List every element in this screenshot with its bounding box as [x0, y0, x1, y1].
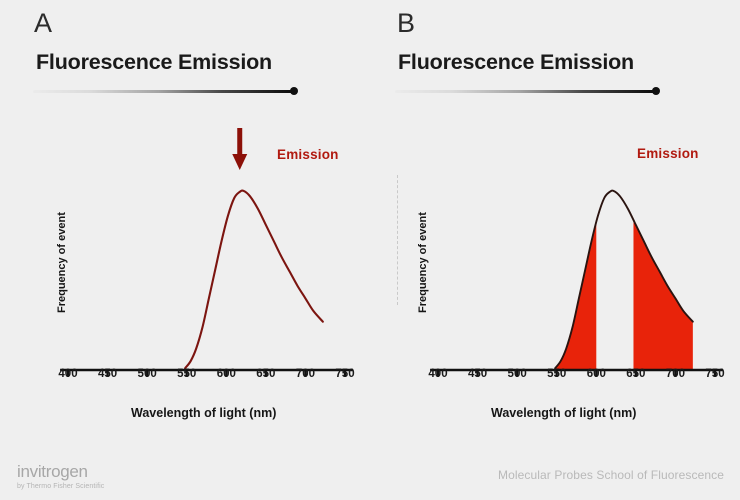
x-tick-label: 450 [98, 368, 117, 380]
x-tick-label: 450 [468, 368, 487, 380]
panel-b-plot [370, 120, 740, 380]
panel-a-title-rule [33, 90, 295, 93]
panel-b-x-axis-label: Wavelength of light (nm) [491, 406, 636, 420]
panel-a: A Fluorescence Emission Emission Frequen… [0, 0, 370, 455]
panel-b-title-rule [395, 90, 657, 93]
panel-a-title: Fluorescence Emission [36, 50, 272, 75]
x-tick-label: 650 [256, 368, 275, 380]
panel-a-emission-arrow [232, 128, 247, 170]
panel-a-emission-curve [185, 191, 323, 369]
x-tick-label: 700 [666, 368, 685, 380]
x-tick-label: 550 [547, 368, 566, 380]
panel-a-letter: A [34, 8, 53, 39]
footer-course-label: Molecular Probes School of Fluorescence [498, 468, 724, 482]
brand-name: invitrogen [17, 463, 104, 480]
fill-region [633, 220, 692, 370]
x-tick-label: 650 [626, 368, 645, 380]
x-tick-label: 700 [296, 368, 315, 380]
footer-brand: invitrogen by Thermo Fisher Scientific [17, 463, 104, 490]
x-tick-label: 600 [217, 368, 236, 380]
x-tick-label: 550 [177, 368, 196, 380]
x-tick-label: 600 [587, 368, 606, 380]
x-tick-label: 400 [58, 368, 77, 380]
fluorescence-emission-figure: A Fluorescence Emission Emission Frequen… [0, 0, 740, 500]
panel-b: B Fluorescence Emission Emission Frequen… [370, 0, 740, 455]
panel-b-letter: B [397, 8, 416, 39]
brand-sub: by Thermo Fisher Scientific [17, 483, 104, 490]
x-tick-label: 750 [705, 368, 724, 380]
panel-b-svg [370, 120, 740, 380]
panel-a-title-rule-dot [290, 87, 298, 95]
x-tick-label: 500 [138, 368, 157, 380]
panel-a-svg [0, 120, 370, 380]
x-tick-label: 500 [508, 368, 527, 380]
panel-a-plot [0, 120, 370, 380]
panel-b-title: Fluorescence Emission [398, 50, 634, 75]
panel-b-title-rule-dot [652, 87, 660, 95]
panel-a-x-axis-label: Wavelength of light (nm) [131, 406, 276, 420]
x-tick-label: 750 [335, 368, 354, 380]
x-tick-label: 400 [428, 368, 447, 380]
